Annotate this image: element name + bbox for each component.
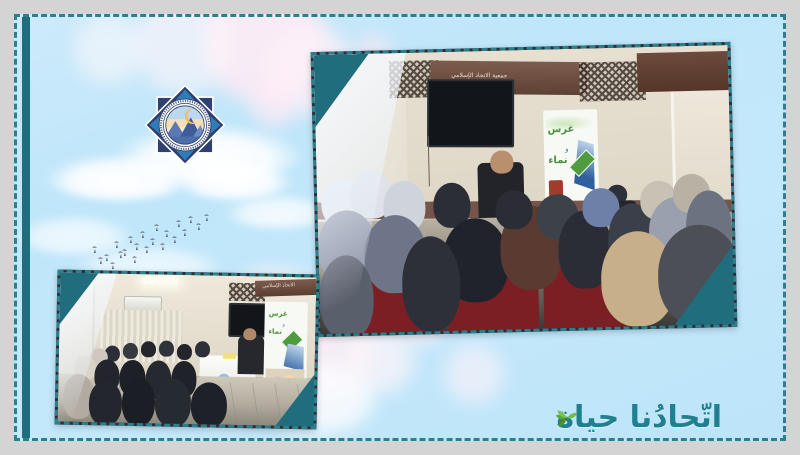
wall-sign-text: الاتحاد الإسلامي (262, 282, 295, 289)
main-photo-scene: جمعية الاتحاد الإسلامي غرس و نماء نماء (314, 45, 735, 334)
banner-text-conjunction: و (565, 145, 569, 153)
banner-text-line-1: غرس (547, 124, 574, 136)
left-accent-bar (22, 17, 30, 438)
attendee-head (155, 379, 192, 427)
slogan-text: اتّحادُنا حياة (556, 400, 722, 435)
banner-text-line-2: نماء (268, 327, 282, 335)
secondary-photo-scene: الاتحاد الإسلامي غرس و نماء (58, 273, 317, 427)
banner-text-conjunction: و (282, 322, 285, 328)
bokeh-circle (444, 344, 504, 404)
attendee-head (122, 378, 156, 426)
speaker-person (238, 336, 264, 375)
organization-logo (137, 77, 233, 173)
table-cups (223, 353, 236, 359)
attendee-head (159, 340, 175, 357)
secondary-event-photo[interactable]: الاتحاد الإسلامي غرس و نماء (55, 269, 320, 429)
attendee-head (177, 343, 193, 360)
attendee-head (123, 342, 139, 359)
main-event-photo[interactable]: جمعية الاتحاد الإسلامي غرس و نماء نماء (311, 42, 738, 337)
attendee-head (195, 341, 211, 358)
poster-canvas: جمعية الاتحاد الإسلامي غرس و نماء نماء (14, 14, 786, 441)
attendee-head (88, 380, 122, 425)
bokeh-circle (74, 14, 144, 84)
speaker-head (244, 328, 257, 340)
banner-text-line-1: غرس (269, 310, 288, 318)
attendee-head (191, 382, 228, 426)
banner-text-line-2: نماء (548, 155, 568, 166)
bokeh-circle (252, 84, 296, 128)
birds-flock-decoration (84, 200, 224, 270)
wall-band-upper-right (637, 51, 729, 92)
wall-sign-text: جمعية الاتحاد الإسلامي (451, 72, 507, 80)
ceiling-light (142, 277, 178, 285)
wall-mounted-tv (427, 79, 514, 147)
speaker-head (490, 151, 513, 174)
slogan-block: اتّحادُنا حياة (512, 392, 722, 441)
leaf-icon (554, 406, 580, 430)
